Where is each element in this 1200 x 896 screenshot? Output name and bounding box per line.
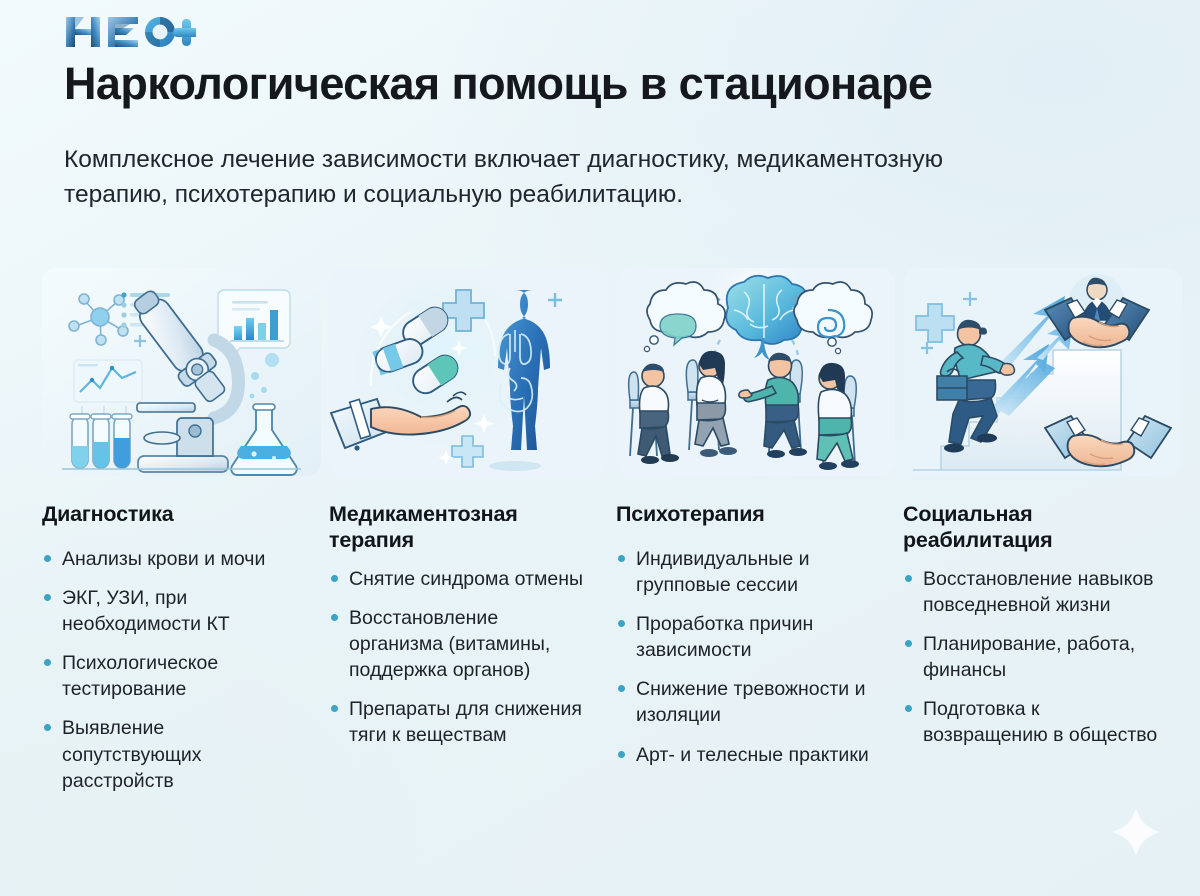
list-item: Восстановление организма (витамины, подд…: [329, 605, 594, 683]
column-bullet-list: Индивидуальные и групповые сессии Прораб…: [616, 546, 903, 768]
list-item: Восстановление навыков повседневной жизн…: [903, 566, 1168, 618]
column-title: Медикаментозная терапия: [329, 502, 616, 554]
column-title: Диагностика: [42, 502, 329, 528]
list-item: Психологическое тестирование: [42, 650, 307, 702]
column-diagnostics: Диагностика Анализы крови и мочи ЭКГ, УЗ…: [42, 268, 329, 868]
list-item: Анализы крови и мочи: [42, 546, 307, 572]
microscope-lab-icon: [42, 268, 321, 476]
test-tubes-icon: [70, 414, 132, 468]
list-item: Проработка причин зависимости: [616, 611, 881, 663]
list-item: Препараты для снижения тяги к веществам: [329, 696, 594, 748]
list-item: Снятие синдрома отмены: [329, 566, 594, 592]
list-item: ЭКГ, УЗИ, при необходимости КТ: [42, 585, 307, 637]
group-therapy-brain-icon: [616, 268, 895, 476]
logo-letter-e: [108, 17, 138, 47]
column-social-rehabilitation: Социальная реабилитация Восстановление н…: [903, 268, 1190, 868]
column-title: Социальная реабилитация: [903, 502, 1190, 554]
sparkle-icon: [1110, 806, 1162, 858]
column-medication-therapy: Медикаментозная терапия Снятие синдрома …: [329, 268, 616, 868]
list-item: Снижение тревожности и изоляции: [616, 676, 881, 728]
brand-logo: [64, 12, 196, 52]
column-title: Психотерапия: [616, 502, 903, 528]
list-item: Подготовка к возвращению в общество: [903, 696, 1168, 748]
logo-letter-o: [145, 17, 175, 47]
page-subtitle: Комплексное лечение зависимости включает…: [64, 143, 944, 213]
stairs-handshake-icon: [903, 268, 1182, 476]
list-item: Индивидуальные и групповые сессии: [616, 546, 881, 598]
service-columns: Диагностика Анализы крови и мочи ЭКГ, УЗ…: [42, 268, 1192, 868]
column-bullet-list: Анализы крови и мочи ЭКГ, УЗИ, при необх…: [42, 546, 329, 794]
column-psychotherapy: Психотерапия Индивидуальные и групповые …: [616, 268, 903, 868]
logo-letter-h: [66, 17, 100, 47]
column-bullet-list: Восстановление навыков повседневной жизн…: [903, 566, 1190, 749]
list-item: Арт- и телесные практики: [616, 742, 881, 768]
page-title: Наркологическая помощь в стационаре: [64, 60, 1154, 109]
logo-plus-icon: [173, 19, 196, 46]
hand-with-pills-body-icon: [329, 268, 608, 476]
list-item: Планирование, работа, финансы: [903, 631, 1168, 683]
column-bullet-list: Снятие синдрома отмены Восстановление ор…: [329, 566, 616, 749]
list-item: Выявление сопутствующих расстройств: [42, 715, 307, 793]
